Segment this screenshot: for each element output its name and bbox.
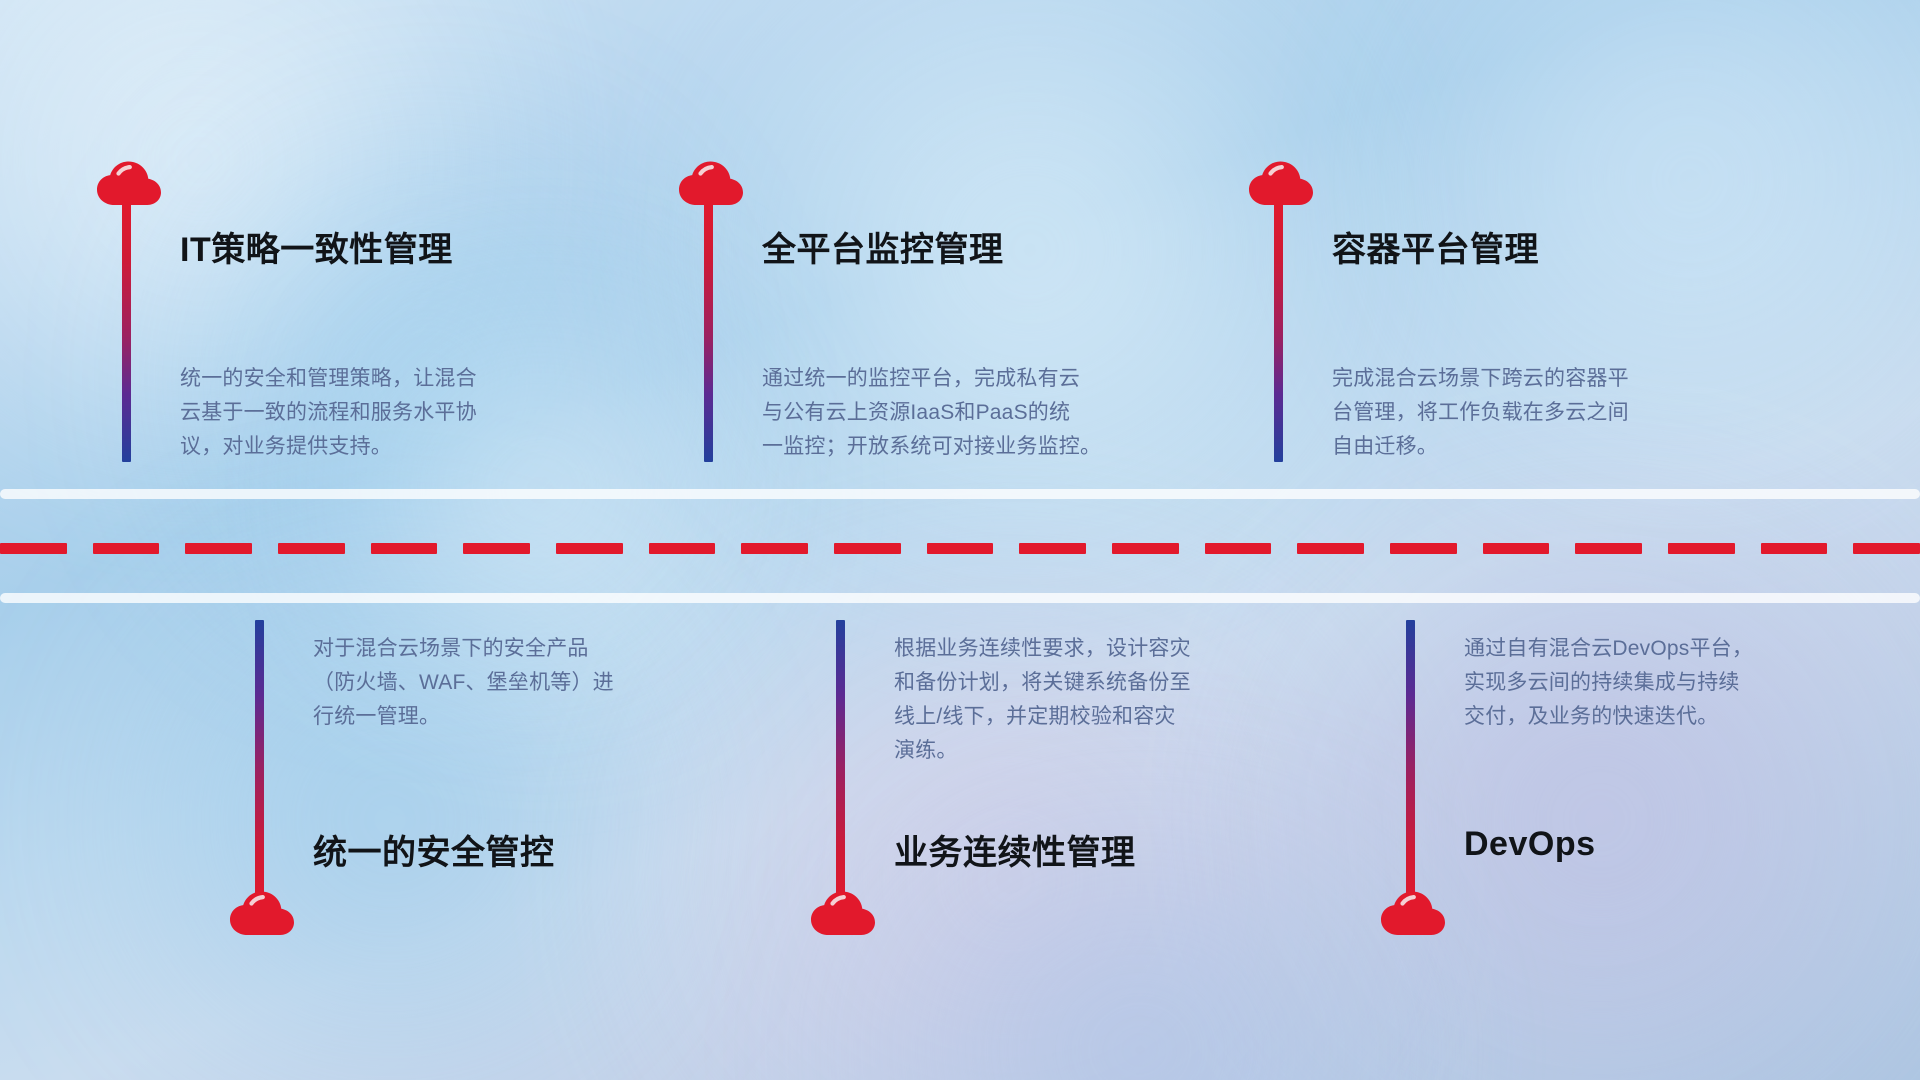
infographic-canvas: IT策略一致性管理 统一的安全和管理策略，让混合 云基于一致的流程和服务水平协 … bbox=[0, 0, 1920, 1080]
dash-segment bbox=[1205, 543, 1272, 554]
dash-segment bbox=[1761, 543, 1828, 554]
card-body: 通过统一的监控平台，完成私有云 与公有云上资源IaaS和PaaS的统 一监控；开… bbox=[762, 362, 1202, 464]
card-title: 业务连续性管理 bbox=[894, 825, 1136, 874]
dash-segment bbox=[556, 543, 623, 554]
card-title: IT策略一致性管理 bbox=[180, 222, 453, 271]
timeline-stem bbox=[122, 200, 131, 462]
card-body: 根据业务连续性要求，设计容灾 和备份计划，将关键系统备份至 线上/线下，并定期校… bbox=[894, 632, 1324, 768]
card-title: 容器平台管理 bbox=[1332, 222, 1539, 271]
dash-segment bbox=[185, 543, 252, 554]
dash-segment bbox=[93, 543, 160, 554]
dash-segment bbox=[741, 543, 808, 554]
dash-segment bbox=[1112, 543, 1179, 554]
card-body: 对于混合云场景下的安全产品 （防火墙、WAF、堡垒机等）进 行统一管理。 bbox=[313, 632, 743, 734]
dash-segment bbox=[463, 543, 530, 554]
dash-segment bbox=[1390, 543, 1457, 554]
cloud-icon bbox=[229, 890, 295, 936]
timeline-stem bbox=[1274, 200, 1283, 462]
card-body: 通过自有混合云DevOps平台， 实现多云间的持续集成与持续 交付，及业务的快速… bbox=[1464, 632, 1894, 734]
card-title: 全平台监控管理 bbox=[762, 222, 1004, 271]
red-dashed-separator bbox=[0, 543, 1920, 554]
dash-segment bbox=[0, 543, 67, 554]
dash-segment bbox=[1297, 543, 1364, 554]
timeline-stem bbox=[1406, 620, 1415, 910]
timeline-stem bbox=[836, 620, 845, 910]
divider-top bbox=[0, 489, 1920, 499]
dash-segment bbox=[1483, 543, 1550, 554]
dash-segment bbox=[1019, 543, 1086, 554]
timeline-stem bbox=[255, 620, 264, 910]
dash-segment bbox=[1668, 543, 1735, 554]
dash-segment bbox=[1853, 543, 1920, 554]
dash-segment bbox=[278, 543, 345, 554]
cloud-icon bbox=[810, 890, 876, 936]
card-body: 统一的安全和管理策略，让混合 云基于一致的流程和服务水平协 议，对业务提供支持。 bbox=[180, 362, 610, 464]
divider-bottom bbox=[0, 593, 1920, 603]
card-title: DevOps bbox=[1464, 825, 1596, 864]
card-body: 完成混合云场景下跨云的容器平 台管理，将工作负载在多云之间 自由迁移。 bbox=[1332, 362, 1772, 464]
timeline-stem bbox=[704, 200, 713, 462]
dash-segment bbox=[1575, 543, 1642, 554]
dash-segment bbox=[649, 543, 716, 554]
dash-segment bbox=[834, 543, 901, 554]
cloud-icon bbox=[1380, 890, 1446, 936]
dash-segment bbox=[927, 543, 994, 554]
card-title: 统一的安全管控 bbox=[313, 825, 555, 874]
dash-segment bbox=[371, 543, 438, 554]
